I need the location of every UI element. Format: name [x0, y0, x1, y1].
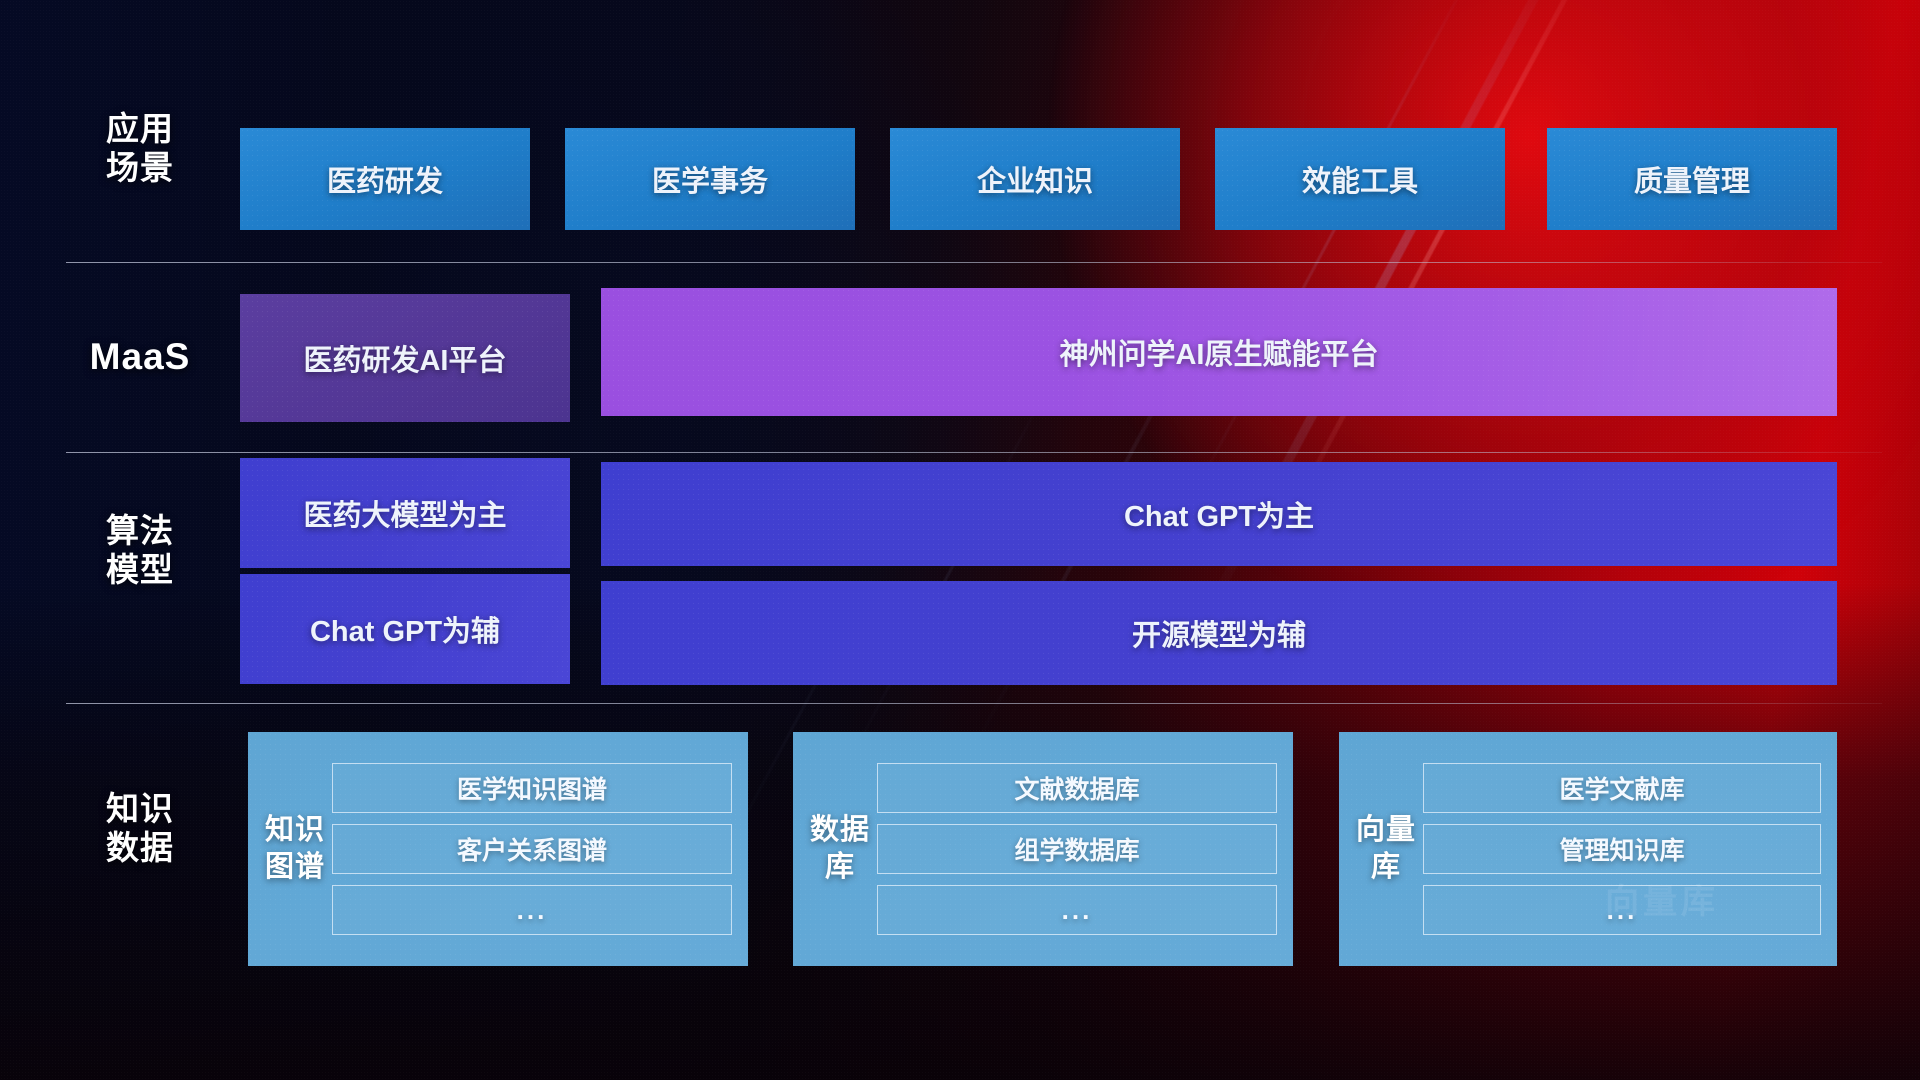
algo-box-label: 医药大模型为主 — [303, 492, 506, 534]
knowledge-panel-knowledge-graph[interactable]: 知识图谱 医学知识图谱 客户关系图谱 ... — [248, 732, 748, 966]
knowledge-panel-title: 向量库 — [1349, 812, 1423, 886]
app-box-efficiency-tools[interactable]: 效能工具 — [1215, 128, 1505, 230]
algo-box-opensource-secondary[interactable]: 开源模型为辅 — [601, 581, 1837, 685]
knowledge-item[interactable]: 文献数据库 — [877, 763, 1277, 813]
knowledge-panel-items: 文献数据库 组学数据库 ... — [877, 763, 1277, 935]
knowledge-panel-vector-store[interactable]: 向量库 向量库 医学文献库 管理知识库 ... — [1339, 732, 1837, 966]
row-label-application: 应用 场景 — [60, 110, 220, 188]
algo-box-label: Chat GPT为辅 — [310, 608, 500, 650]
app-box-label: 医学事务 — [652, 158, 768, 200]
maas-box-label: 医药研发AI平台 — [303, 337, 506, 379]
knowledge-item[interactable]: 管理知识库 — [1423, 824, 1821, 874]
row-label-algorithm: 算法 模型 — [60, 512, 220, 590]
app-box-enterprise-knowledge[interactable]: 企业知识 — [890, 128, 1180, 230]
app-box-medical-rd[interactable]: 医药研发 — [240, 128, 530, 230]
app-box-label: 质量管理 — [1634, 158, 1750, 200]
knowledge-item[interactable]: 医学文献库 — [1423, 763, 1821, 813]
maas-box-shenzhou-ai-platform[interactable]: 神州问学AI原生赋能平台 — [601, 288, 1837, 416]
row-label-maas-text: MaaS — [60, 335, 220, 379]
app-box-label: 医药研发 — [327, 158, 443, 200]
knowledge-item-more[interactable]: ... — [332, 885, 732, 935]
app-box-label: 效能工具 — [1302, 158, 1418, 200]
row-label-knowledge: 知识 数据 — [60, 790, 220, 868]
architecture-diagram: 应用 场景 医药研发 医学事务 企业知识 效能工具 质量管理 MaaS 医药研发… — [0, 0, 1920, 1080]
knowledge-item-more[interactable]: ... — [877, 885, 1277, 935]
algo-box-label: 开源模型为辅 — [1132, 612, 1306, 654]
app-box-quality-management[interactable]: 质量管理 — [1547, 128, 1837, 230]
knowledge-item[interactable]: 客户关系图谱 — [332, 824, 732, 874]
divider-application-maas — [66, 262, 1882, 263]
divider-maas-algorithm — [66, 452, 1882, 453]
row-label-application-line1: 应用 — [60, 110, 220, 149]
maas-box-pharma-ai-platform[interactable]: 医药研发AI平台 — [240, 294, 570, 422]
row-label-knowledge-line2: 数据 — [60, 829, 220, 868]
knowledge-item[interactable]: 医学知识图谱 — [332, 763, 732, 813]
knowledge-panel-database[interactable]: 数据库 文献数据库 组学数据库 ... — [793, 732, 1293, 966]
row-label-algorithm-line1: 算法 — [60, 512, 220, 551]
divider-algorithm-knowledge — [66, 703, 1882, 704]
knowledge-panel-title: 数据库 — [803, 812, 877, 886]
algo-box-chatgpt-secondary[interactable]: Chat GPT为辅 — [240, 574, 570, 684]
row-label-knowledge-line1: 知识 — [60, 790, 220, 829]
knowledge-item[interactable]: 组学数据库 — [877, 824, 1277, 874]
row-label-maas: MaaS — [60, 335, 220, 379]
row-label-algorithm-line2: 模型 — [60, 551, 220, 590]
algo-box-label: Chat GPT为主 — [1124, 493, 1314, 535]
knowledge-panel-items: 医学知识图谱 客户关系图谱 ... — [332, 763, 732, 935]
knowledge-panel-title: 知识图谱 — [258, 812, 332, 886]
algo-box-chatgpt-primary[interactable]: Chat GPT为主 — [601, 462, 1837, 566]
knowledge-item-more[interactable]: ... — [1423, 885, 1821, 935]
knowledge-panel-items: 医学文献库 管理知识库 ... — [1423, 763, 1821, 935]
app-box-medical-affairs[interactable]: 医学事务 — [565, 128, 855, 230]
app-box-label: 企业知识 — [977, 158, 1093, 200]
maas-box-label: 神州问学AI原生赋能平台 — [1059, 331, 1378, 373]
row-label-application-line2: 场景 — [60, 149, 220, 188]
algo-box-pharma-llm-primary[interactable]: 医药大模型为主 — [240, 458, 570, 568]
